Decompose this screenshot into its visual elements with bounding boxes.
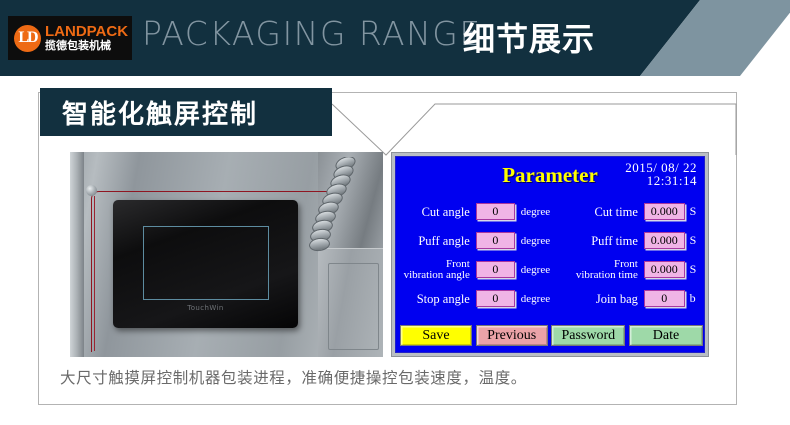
param-unit-join-bag: b xyxy=(685,291,704,306)
param-unit-puff-time: S xyxy=(685,233,704,248)
param-field-front-vibration-angle[interactable]: 0 xyxy=(476,261,515,278)
param-field-stop-angle[interactable]: 0 xyxy=(476,290,515,307)
parameter-row: Frontvibration angle 0 degree Frontvibra… xyxy=(396,255,704,284)
photo-spiral-cable-wrap xyxy=(301,157,357,253)
photo-panel-screw xyxy=(86,185,97,196)
logo-brand-en: LANDPACK xyxy=(45,24,128,40)
param-label-front-vibration-time: Frontvibration time xyxy=(564,259,644,281)
save-button[interactable]: Save xyxy=(400,325,472,346)
hmi-button-bar: Save Previous Password Date xyxy=(400,324,703,347)
param-label-puff-time: Puff time xyxy=(564,235,644,247)
hmi-screen-surface: Parameter 2015/ 08/ 22 12:31:14 Cut angl… xyxy=(395,156,705,353)
param-unit-front-vibration-angle: degree xyxy=(515,264,564,276)
param-unit-stop-angle: degree xyxy=(515,293,564,305)
param-unit-cut-time: S xyxy=(685,204,704,219)
previous-button[interactable]: Previous xyxy=(476,325,548,346)
param-field-cut-angle[interactable]: 0 xyxy=(476,203,515,220)
hmi-parameter-rows: Cut angle 0 degree Cut time 0.000 S Puff… xyxy=(396,197,704,313)
parameter-row: Stop angle 0 degree Join bag 0 b xyxy=(396,284,704,313)
hmi-datetime: 2015/ 08/ 22 12:31:14 xyxy=(625,161,697,187)
param-unit-puff-angle: degree xyxy=(515,235,564,247)
parameter-row: Puff angle 0 degree Puff time 0.000 S xyxy=(396,226,704,255)
photo-hmi-brand-label: TouchWin xyxy=(113,304,298,312)
param-label-stop-angle: Stop angle xyxy=(396,293,476,305)
photo-hmi-display xyxy=(143,226,269,300)
logo-brand-cn: 揽德包装机械 xyxy=(45,40,128,53)
param-label-cut-angle: Cut angle xyxy=(396,206,476,218)
param-label-puff-angle: Puff angle xyxy=(396,235,476,247)
param-field-cut-time[interactable]: 0.000 xyxy=(644,203,685,220)
param-field-puff-angle[interactable]: 0 xyxy=(476,232,515,249)
banner-title-cn: 细节展示 xyxy=(463,14,595,60)
hmi-parameter-screen: Parameter 2015/ 08/ 22 12:31:14 Cut angl… xyxy=(392,153,708,356)
param-field-join-bag[interactable]: 0 xyxy=(644,290,685,307)
section-title-box: 智能化触屏控制 xyxy=(40,88,332,136)
machine-photo: TouchWin xyxy=(70,152,383,357)
date-button[interactable]: Date xyxy=(629,325,703,346)
section-title-label: 智能化触屏控制 xyxy=(62,94,258,131)
param-unit-front-vibration-time: S xyxy=(685,262,704,277)
param-unit-cut-angle: degree xyxy=(515,206,564,218)
logo-monogram: LD xyxy=(14,25,41,52)
param-label-join-bag: Join bag xyxy=(564,293,644,305)
photo-hmi-device: TouchWin xyxy=(113,200,298,328)
param-field-puff-time[interactable]: 0.000 xyxy=(644,232,685,249)
logo-circle-icon: LD xyxy=(14,25,41,52)
photo-panel-left-edge xyxy=(70,152,84,357)
hmi-time-label: 12:31:14 xyxy=(625,174,697,187)
param-field-front-vibration-time[interactable]: 0.000 xyxy=(644,261,685,278)
page-header-banner: LD LANDPACK 揽德包装机械 PACKAGING RANGE 细节展示 xyxy=(0,0,790,76)
param-label-cut-time: Cut time xyxy=(564,206,644,218)
param-label-front-vibration-angle: Frontvibration angle xyxy=(396,259,476,281)
banner-title-en: PACKAGING RANGE xyxy=(142,14,482,53)
logo-text-block: LANDPACK 揽德包装机械 xyxy=(45,24,128,53)
password-button[interactable]: Password xyxy=(551,325,625,346)
section-caption: 大尺寸触摸屏控制机器包装进程，准确便捷操控包装速度，温度。 xyxy=(60,366,527,388)
company-logo: LD LANDPACK 揽德包装机械 xyxy=(8,16,132,60)
parameter-row: Cut angle 0 degree Cut time 0.000 S xyxy=(396,197,704,226)
